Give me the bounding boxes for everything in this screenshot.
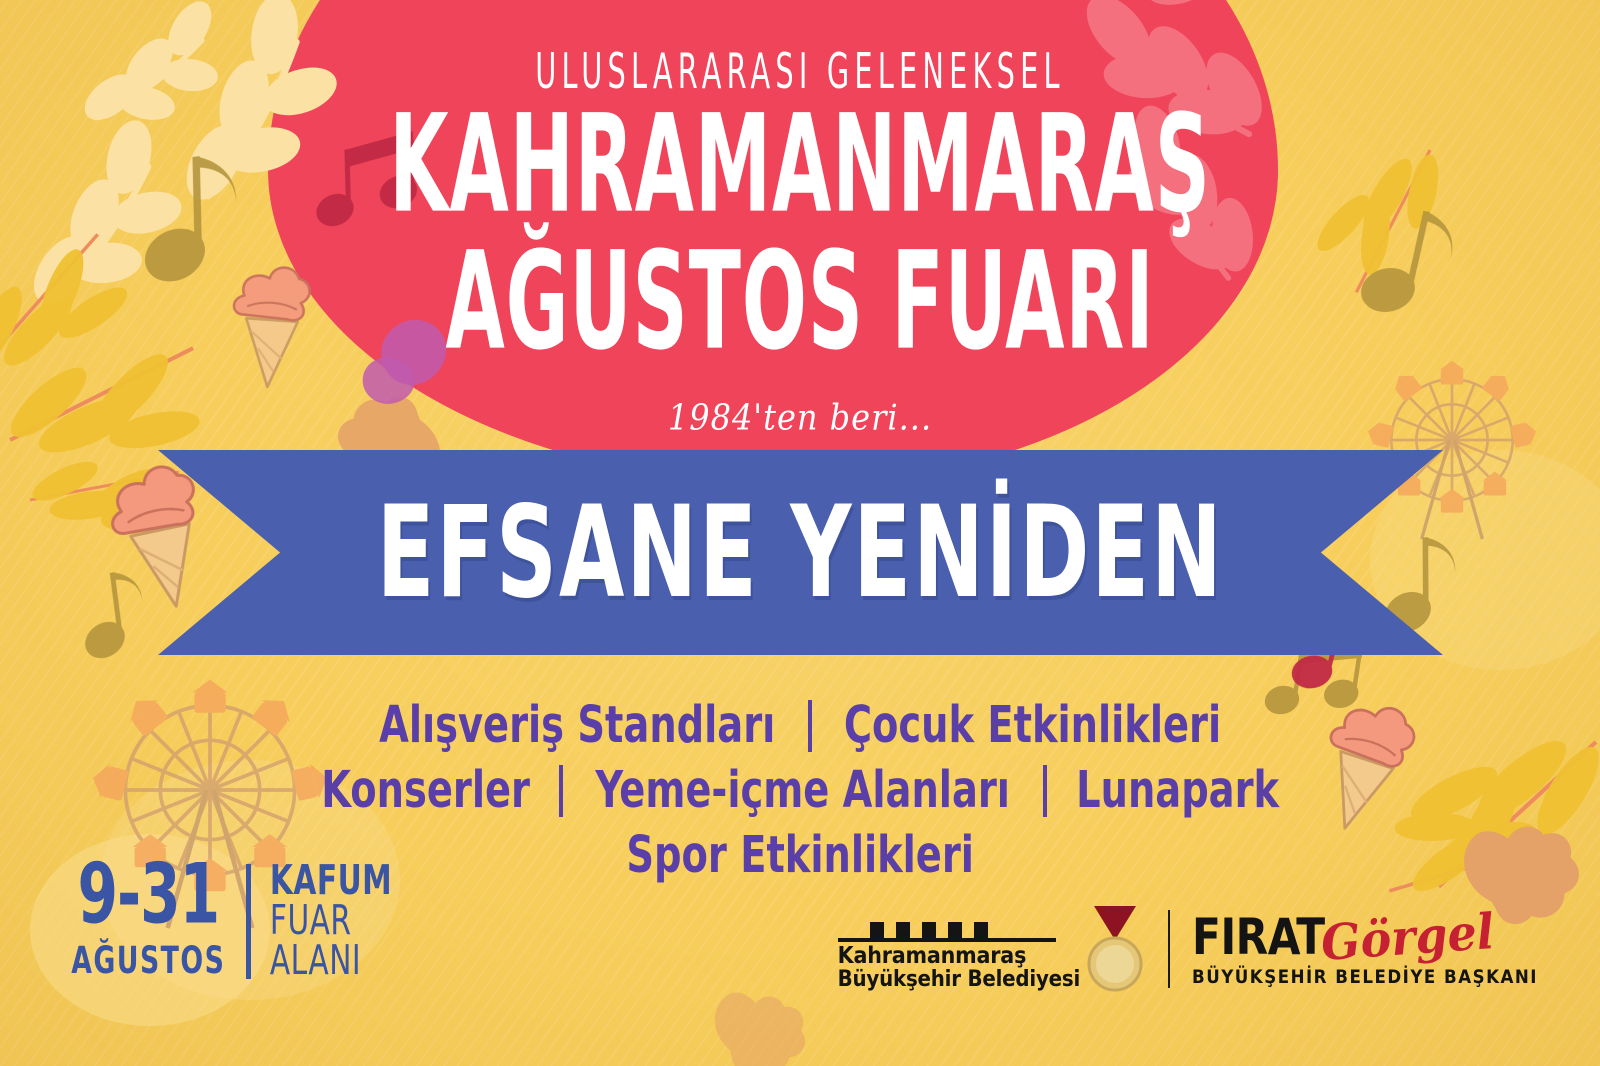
logo-bar: Kahramanmaraş Büyükşehir Belediyesi FIRA… [838, 906, 1538, 992]
municipality-text: Kahramanmaraş Büyükşehir Belediyesi [838, 916, 1080, 992]
activity-item: Alışveriş Standları [379, 696, 775, 756]
activity-item: Konserler [321, 761, 530, 821]
activity-divider [1043, 765, 1047, 817]
venue-line-3: ALANI [269, 941, 391, 983]
activity-item: Lunapark [1076, 761, 1279, 821]
efsane-yeniden-banner: EFSANE YENİDEN [158, 450, 1443, 655]
activity-divider [808, 700, 812, 752]
mayor-title: BÜYÜKŞEHİR BELEDİYE BAŞKANI [1192, 967, 1538, 988]
venue-column: KAFUM FUAR ALANI [268, 862, 394, 979]
mayor-last-name: Görgel [1319, 902, 1496, 971]
activity-item: Spor Etkinlikleri [626, 826, 974, 886]
municipality-name-line1: Kahramanmaraş [838, 944, 1027, 969]
activity-item: Yeme-içme Alanları [596, 761, 1011, 821]
title-line-2: AĞUSTOS FUARI [144, 236, 1456, 367]
medal-icon [1084, 906, 1146, 992]
date-month: AĞUSTOS [71, 939, 225, 982]
date-range: 9-31 [77, 859, 219, 932]
headline-block: ULUSLARARASI GELENEKSEL KAHRAMANMARAŞ AĞ… [0, 52, 1600, 436]
activities-row-2: Konserler Yeme-içme Alanları Lunapark [0, 765, 1600, 817]
mayor-name-row: FIRAT Görgel [1192, 910, 1494, 965]
activities-row-1: Alışveriş Standları Çocuk Etkinlikleri [0, 700, 1600, 752]
date-venue-block: 9-31 AĞUSTOS KAFUM FUAR ALANI [68, 862, 394, 979]
castle-crenellation-icon [838, 916, 1056, 942]
poster-canvas: ULUSLARARASI GELENEKSEL KAHRAMANMARAŞ AĞ… [0, 0, 1600, 1066]
logo-separator [1168, 910, 1170, 988]
activity-divider [559, 765, 563, 817]
activity-item: Çocuk Etkinlikleri [844, 696, 1221, 756]
municipality-name-line2: Büyükşehir Belediyesi [838, 968, 1080, 992]
mayor-logo: FIRAT Görgel BÜYÜKŞEHİR BELEDİYE BAŞKANI [1192, 910, 1538, 988]
since-text: 1984'ten beri... [0, 395, 1600, 438]
date-venue-divider [246, 864, 251, 979]
title-line-1: KAHRAMANMARAŞ [144, 99, 1456, 230]
banner-text: EFSANE YENİDEN [377, 489, 1224, 616]
mayor-first-name: FIRAT [1192, 908, 1325, 966]
municipality-logo: Kahramanmaraş Büyükşehir Belediyesi [838, 906, 1146, 992]
date-left-column: 9-31 AĞUSTOS [68, 862, 229, 979]
